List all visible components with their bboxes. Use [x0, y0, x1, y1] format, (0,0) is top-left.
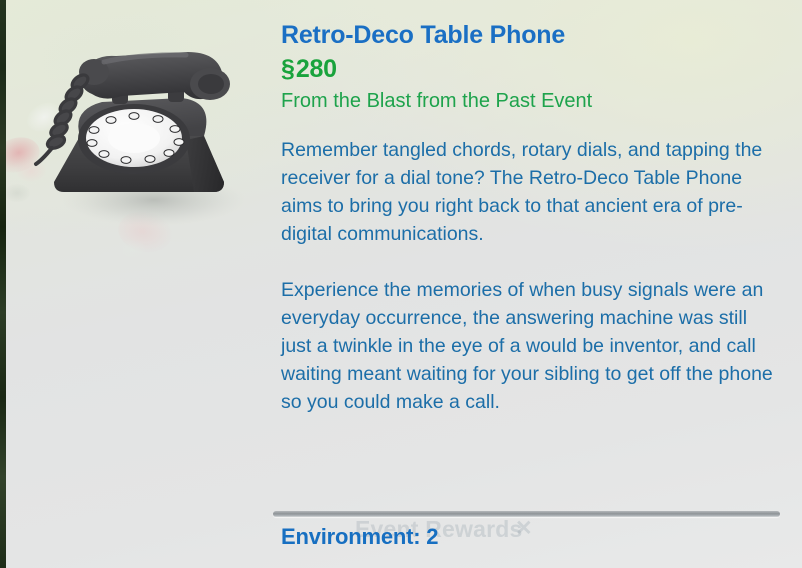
price-value: 280 — [296, 54, 337, 84]
item-tooltip-screen: Retro-Deco Table Phone § 280 From the Bl… — [0, 0, 802, 568]
product-image — [18, 40, 266, 250]
section-divider — [273, 511, 780, 517]
item-description: Remember tangled chords, rotary dials, a… — [281, 136, 781, 416]
event-source-label: From the Blast from the Past Event — [281, 89, 781, 114]
page-title: Retro-Deco Table Phone — [281, 20, 781, 50]
game-world-edge-strip — [0, 0, 6, 568]
status-badge: Environment: 2 — [281, 524, 438, 550]
price-row: § 280 — [281, 54, 781, 84]
simoleon-icon: § — [281, 54, 295, 84]
description-paragraph: Remember tangled chords, rotary dials, a… — [281, 136, 781, 248]
description-paragraph: Experience the memories of when busy sig… — [281, 276, 781, 416]
item-info-column: Retro-Deco Table Phone § 280 From the Bl… — [281, 20, 781, 416]
